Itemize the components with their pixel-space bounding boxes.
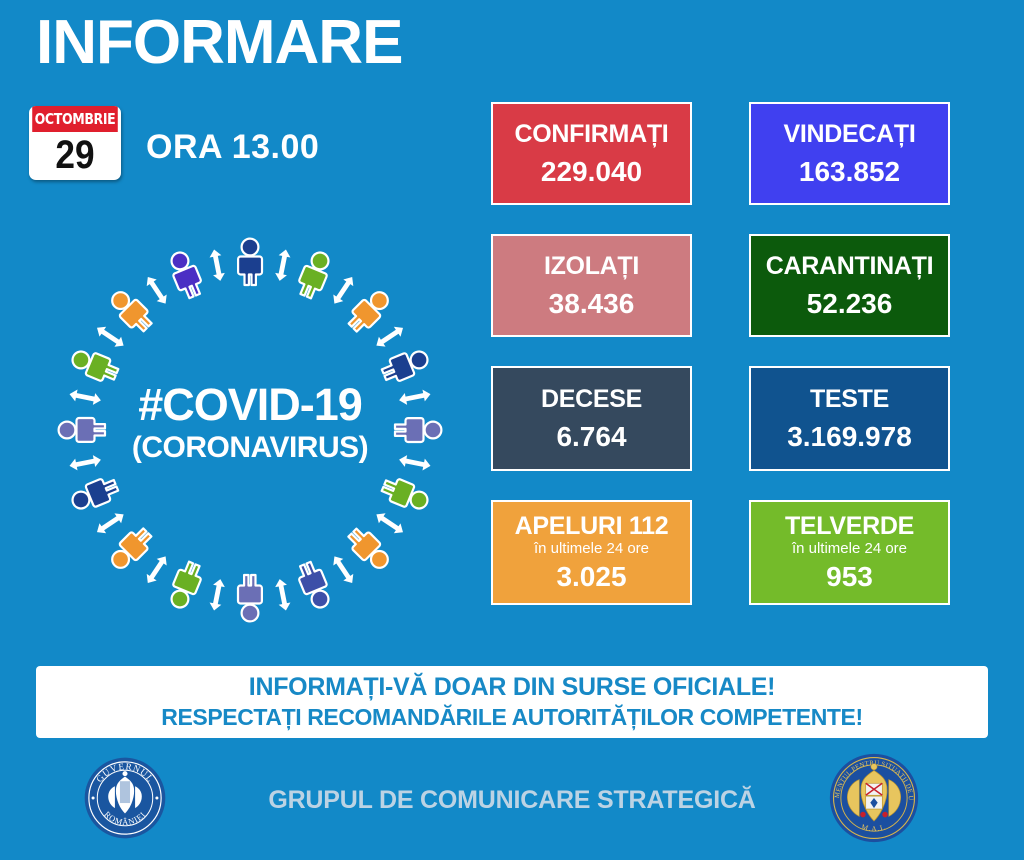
stat-row: CONFIRMAȚI229.040VINDECAȚI163.852 <box>491 102 963 205</box>
stat-label: CARANTINAȚI <box>766 251 934 281</box>
stat-value: 3.025 <box>556 560 626 594</box>
stat-teste: TESTE3.169.978 <box>749 366 950 471</box>
page-title: INFORMARE <box>36 8 402 78</box>
stat-subtitle: în ultimele 24 ore <box>534 540 649 558</box>
footer-organization: GRUPUL DE COMUNICARE STRATEGICĂ <box>0 786 1024 815</box>
stat-subtitle: în ultimele 24 ore <box>792 540 907 558</box>
infographic-root: INFORMARE OCTOMBRIE 29 ORA 13.00 #COVID-… <box>0 0 1024 860</box>
calendar-day: 29 <box>35 132 116 179</box>
stat-telverde: TELVERDEîn ultimele 24 ore953 <box>749 500 950 605</box>
stat-confirmati: CONFIRMAȚI229.040 <box>491 102 692 205</box>
stat-label: VINDECAȚI <box>783 119 915 149</box>
stat-value: 38.436 <box>549 287 635 321</box>
stat-label: DECESE <box>541 384 642 414</box>
banner-line-2: RESPECTAȚI RECOMANDĂRILE AUTORITĂȚILOR C… <box>161 703 863 732</box>
banner-line-1: INFORMAȚI-VĂ DOAR DIN SURSE OFICIALE! <box>249 672 775 703</box>
stat-apeluri-112: APELURI 112în ultimele 24 ore3.025 <box>491 500 692 605</box>
stat-vindecati: VINDECAȚI163.852 <box>749 102 950 205</box>
stat-izolati: IZOLAȚI38.436 <box>491 234 692 337</box>
stats-grid: CONFIRMAȚI229.040VINDECAȚI163.852IZOLAȚI… <box>491 102 963 634</box>
report-time: ORA 13.00 <box>146 128 319 167</box>
stat-label: CONFIRMAȚI <box>515 119 669 149</box>
stat-value: 163.852 <box>799 155 900 189</box>
calendar-month: OCTOMBRIE <box>32 106 118 132</box>
stat-value: 6.764 <box>556 420 626 454</box>
stat-label: IZOLAȚI <box>544 251 639 281</box>
official-sources-banner: INFORMAȚI-VĂ DOAR DIN SURSE OFICIALE! RE… <box>36 666 988 738</box>
calendar-icon: OCTOMBRIE 29 <box>29 106 121 180</box>
stat-row: DECESE6.764TESTE3.169.978 <box>491 366 963 471</box>
stat-value: 52.236 <box>807 287 893 321</box>
stat-label: TESTE <box>810 384 889 414</box>
stat-value: 953 <box>826 560 873 594</box>
stat-label: APELURI 112 <box>515 511 669 541</box>
stat-value: 229.040 <box>541 155 642 189</box>
people-circle-icon: #COVID-19 (CORONAVIRUS) <box>35 215 465 645</box>
stat-row: IZOLAȚI38.436CARANTINAȚI52.236 <box>491 234 963 337</box>
stat-carantinati: CARANTINAȚI52.236 <box>749 234 950 337</box>
stat-decese: DECESE6.764 <box>491 366 692 471</box>
stat-label: TELVERDE <box>785 511 914 541</box>
stat-value: 3.169.978 <box>787 420 912 454</box>
stat-row: APELURI 112în ultimele 24 ore3.025TELVER… <box>491 500 963 605</box>
